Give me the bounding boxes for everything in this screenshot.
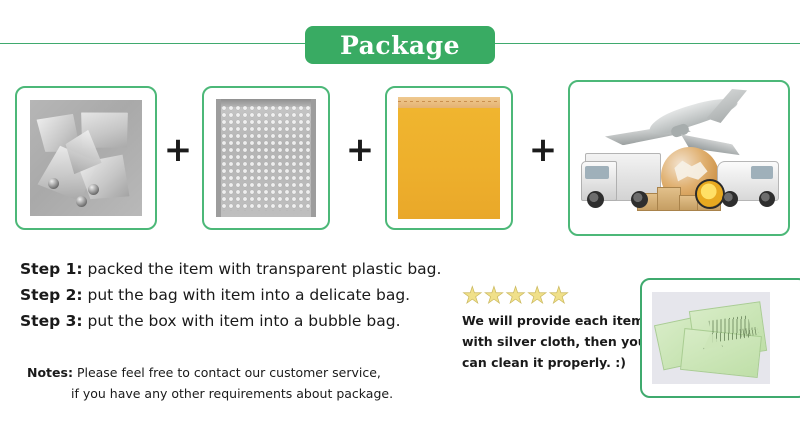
promo-line-2: with silver cloth, then you (462, 331, 642, 352)
notes-first-row: Notes: Please feel free to contact our c… (27, 362, 447, 383)
step-item: Step 2: put the bag with item into a del… (20, 282, 450, 308)
gear-wheel-icon (695, 179, 725, 209)
plus-separator-icon: + (528, 135, 558, 165)
step-description: put the bag with item into a delicate ba… (88, 286, 411, 304)
step-label: Step 2: (20, 286, 83, 304)
notes-line-2: if you have any other requirements about… (27, 383, 447, 404)
star-icon: ★ (505, 284, 526, 308)
plus-separator-icon: + (163, 135, 193, 165)
silver-cloth-image-box (640, 278, 800, 398)
promo-line-1: We will provide each item (462, 310, 642, 331)
notes-block: Notes: Please feel free to contact our c… (27, 362, 447, 404)
truck-wheel (587, 191, 604, 208)
package-title-banner: Package (305, 26, 495, 64)
step-label: Step 1: (20, 260, 83, 278)
star-rating: ★ ★ ★ ★ ★ (462, 284, 642, 308)
star-icon: ★ (549, 284, 570, 308)
bubble-texture (221, 105, 311, 211)
step-item: Step 1: packed the item with transparent… (20, 256, 450, 282)
plus-separator-icon: + (345, 135, 375, 165)
truck-wheel (631, 191, 648, 208)
star-icon: ★ (484, 284, 505, 308)
silver-cloth-promo: ★ ★ ★ ★ ★ We will provide each item with… (462, 284, 642, 373)
jewelry-charm (88, 184, 99, 195)
van-window (751, 166, 773, 179)
jewelry-charm (76, 196, 87, 207)
silver-bubble-bag-photo (216, 99, 316, 217)
van-wheel (759, 191, 775, 207)
product-box-shipping-logistics (568, 80, 790, 236)
notes-label: Notes: (27, 365, 73, 380)
step-item: Step 3: put the box with item into a bub… (20, 308, 450, 334)
star-icon: ★ (527, 284, 548, 308)
truck-window (585, 166, 609, 179)
product-box-transparent-plastic-bag (15, 86, 157, 230)
cardboard-carton (657, 187, 681, 211)
page-header: Package (0, 14, 800, 64)
step-description: packed the item with transparent plastic… (88, 260, 442, 278)
step-description: put the box with item into a bubble bag. (88, 312, 401, 330)
product-box-silver-bubble-bag (202, 86, 330, 230)
packaging-steps-list: Step 1: packed the item with transparent… (20, 256, 450, 334)
kraft-bubble-mailer-photo (398, 97, 500, 219)
shipping-logistics-photo (575, 87, 783, 229)
step-label: Step 3: (20, 312, 83, 330)
jewelry-charm (48, 178, 59, 189)
transparent-plastic-bag-photo (30, 100, 142, 216)
promo-line-3: can clean it properly. :) (462, 352, 642, 373)
van-wheel (722, 191, 738, 207)
product-box-kraft-bubble-mailer (385, 86, 513, 230)
silver-polishing-cloth-photo (652, 292, 770, 384)
packaging-steps-image-row: + + + (0, 72, 800, 242)
mailer-flap (398, 97, 500, 108)
star-icon: ★ (462, 284, 483, 308)
notes-line-1: Please feel free to contact our customer… (77, 365, 381, 380)
page-title: Package (340, 33, 460, 58)
